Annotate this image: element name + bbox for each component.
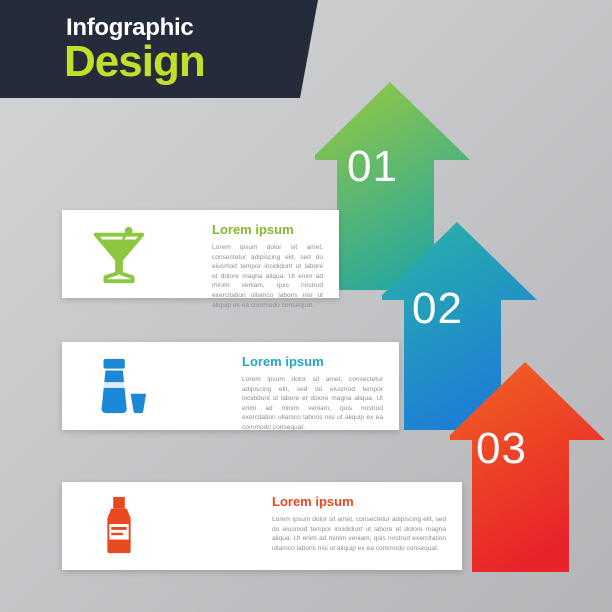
arrow-number-01: 01 xyxy=(347,142,398,192)
martini-glass-icon xyxy=(88,223,150,285)
card-title-01: Lorem ipsum xyxy=(212,222,323,237)
card-text-03: Lorem ipsum Lorem ipsum dolor sit amet, … xyxy=(272,494,446,553)
card-step-02[interactable]: Lorem ipsum Lorem ipsum dolor sit amet, … xyxy=(62,342,399,430)
card-title-02: Lorem ipsum xyxy=(242,354,383,369)
card-step-01[interactable]: Lorem ipsum Lorem ipsum dolor sit amet, … xyxy=(62,210,339,298)
card-title-03: Lorem ipsum xyxy=(272,494,446,509)
arrow-number-02: 02 xyxy=(412,284,463,334)
arrow-step-03[interactable]: 03 xyxy=(450,362,612,574)
card-text-02: Lorem ipsum Lorem ipsum dolor sit amet, … xyxy=(242,354,383,433)
infographic-canvas: Infographic Design 01 02 xyxy=(0,0,612,612)
card-body-02: Lorem ipsum dolor sit amet, consectetur … xyxy=(242,375,383,433)
card-text-01: Lorem ipsum Lorem ipsum dolor sit amet, … xyxy=(212,222,323,310)
card-body-01: Lorem ipsum dolor sit amet, consectetur … xyxy=(212,243,323,310)
title-line-2: Design xyxy=(64,38,205,86)
cocktail-shaker-icon xyxy=(88,355,150,417)
card-body-03: Lorem ipsum dolor sit amet, consectetur … xyxy=(272,515,446,553)
whiskey-bottle-icon xyxy=(88,495,150,557)
arrow-number-03: 03 xyxy=(476,424,527,474)
card-step-03[interactable]: Lorem ipsum Lorem ipsum dolor sit amet, … xyxy=(62,482,462,570)
